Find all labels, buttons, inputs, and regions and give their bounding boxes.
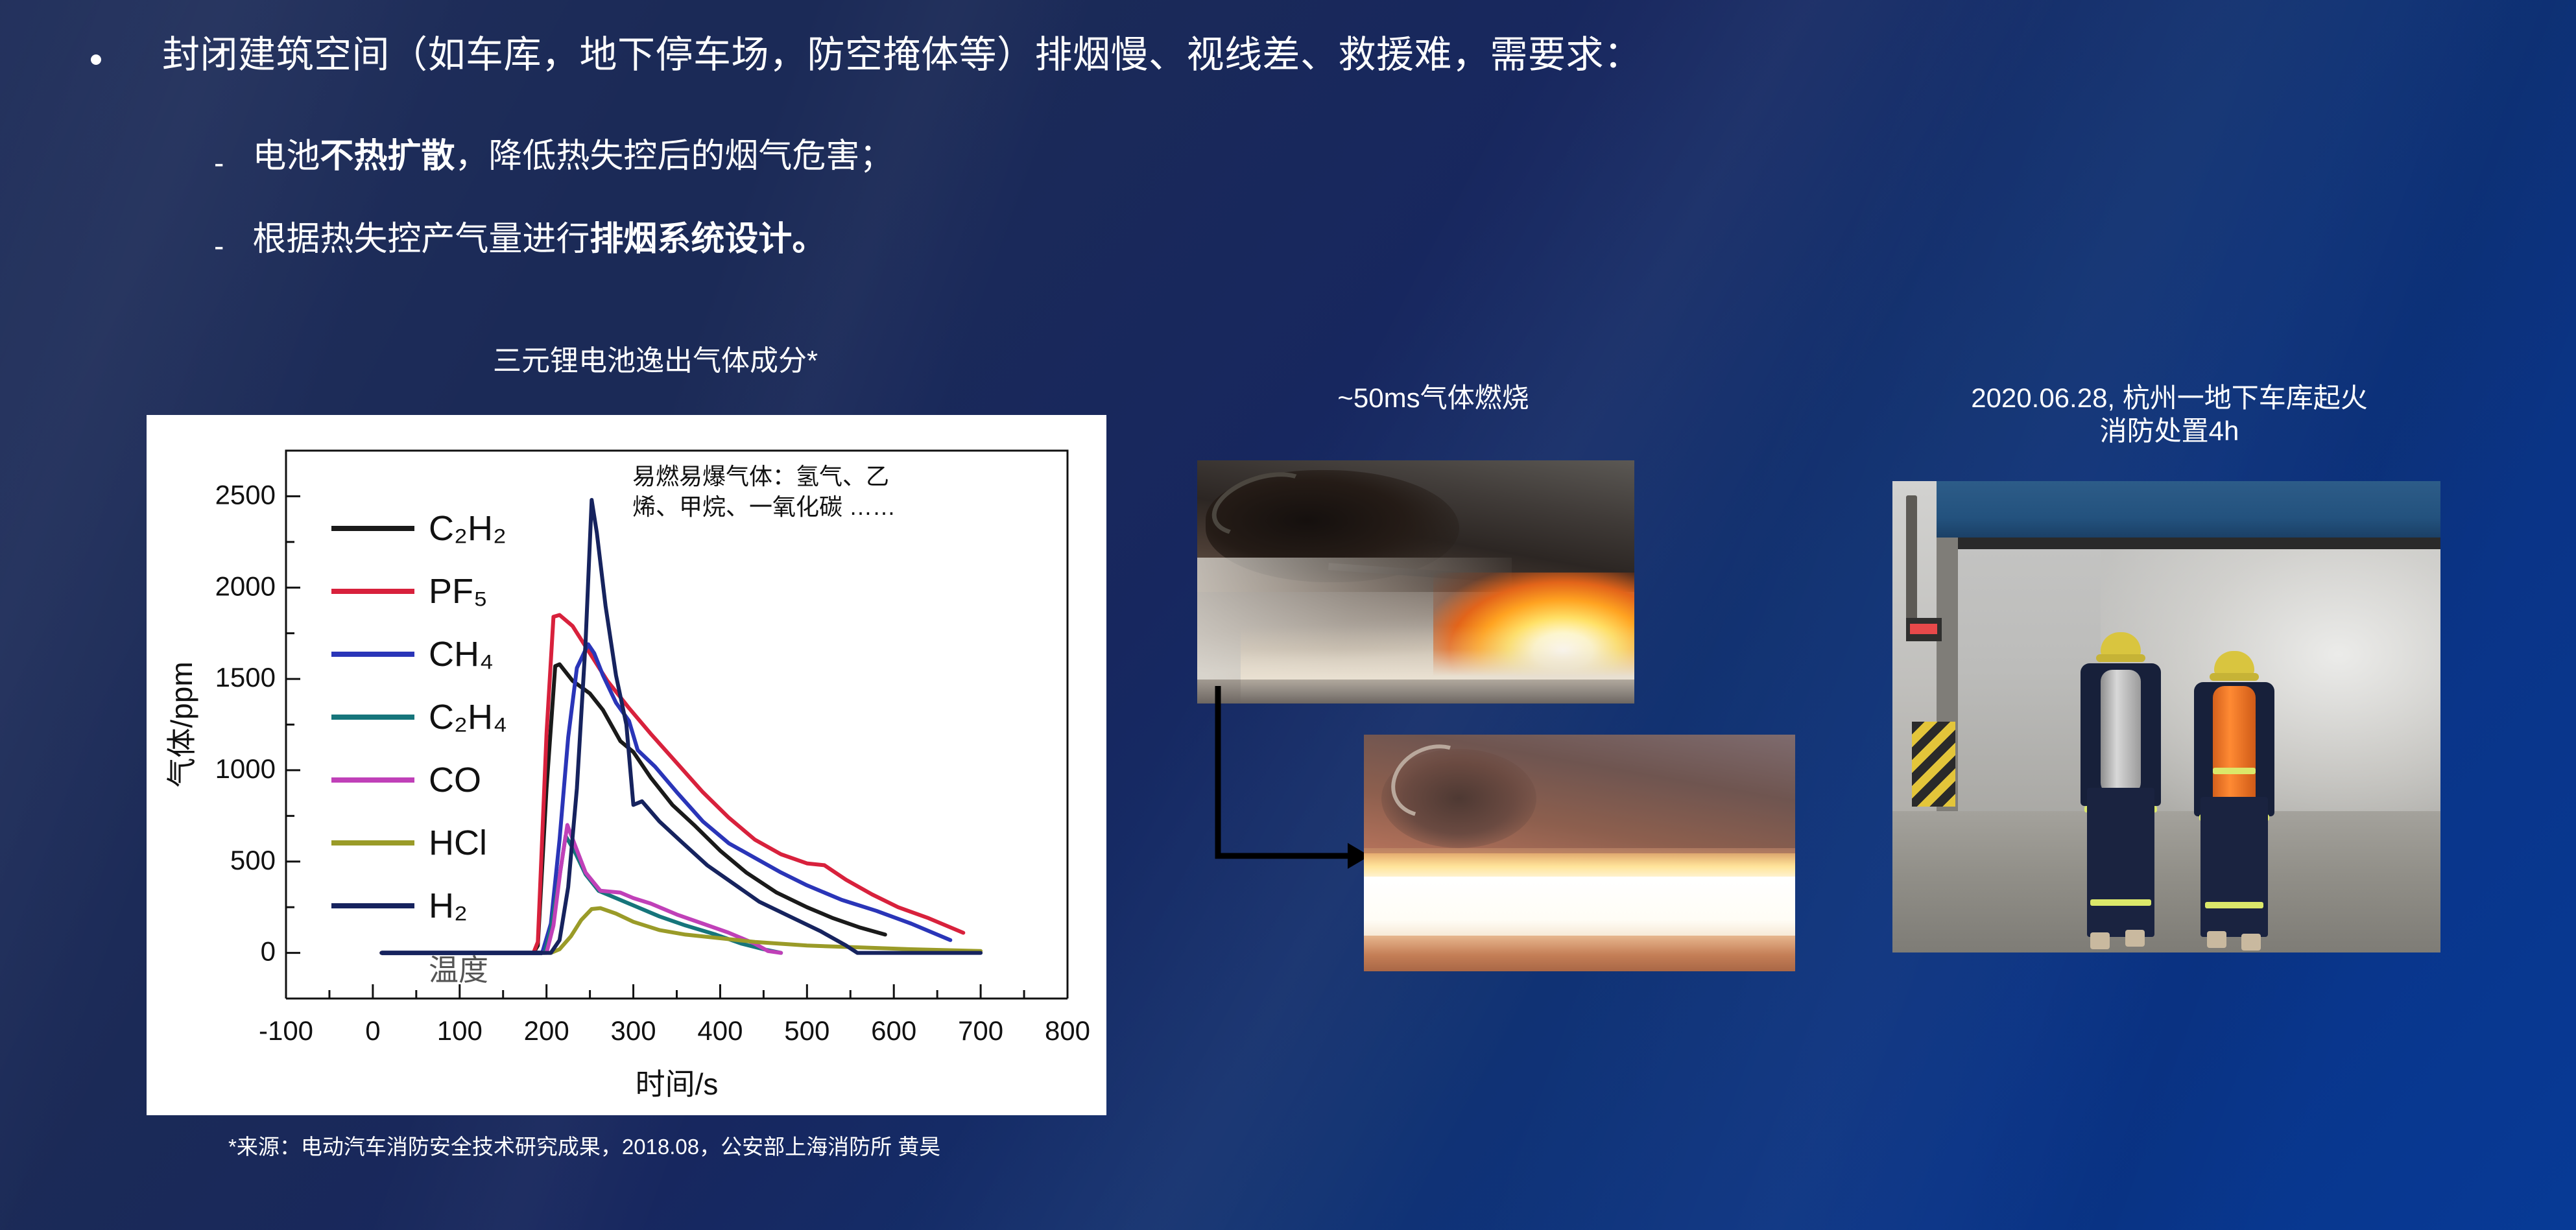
y-axis-label: 气体/ppm <box>165 661 198 787</box>
legend-label-HCl: HCl <box>429 823 487 862</box>
caption-line: 2020.06.28, 杭州一地下车库起火 <box>1835 381 2503 414</box>
sub2-prefix: 根据热失控产气量进行 <box>252 220 590 258</box>
caption-line: 消防处置4h <box>1835 414 2503 447</box>
floor-strip <box>1364 936 1795 971</box>
flame-front-zoom-photo <box>1364 735 1795 971</box>
legend-label-C2H4: C₂H₄ <box>429 698 507 737</box>
bright-flash <box>1364 877 1795 938</box>
chart-title: 三元锂电池逸出气体成分* <box>493 337 818 379</box>
chart-annotation: 易燃易爆气体：氢气、乙 烯、甲烷、一氧化碳 …… <box>632 462 896 523</box>
legend-label-C2H2: C₂H₂ <box>429 509 507 548</box>
reflective-stripe <box>2090 899 2151 906</box>
legend-label-temperature: 温度 <box>429 953 488 987</box>
scba-tank <box>2213 686 2256 809</box>
sub-bullet-1-text: 电池不热扩散，降低热失控后的烟气危害； <box>252 136 893 176</box>
y-tick-label: 500 <box>230 845 276 875</box>
legend-label-H2: H₂ <box>429 886 468 925</box>
sub-bullet-1: - 电池不热扩散，降低热失控后的烟气危害； <box>214 136 893 178</box>
hazard-stripe-guard <box>1912 722 1956 807</box>
y-tick-label: 2000 <box>215 571 276 601</box>
chart-background <box>147 415 1106 1115</box>
x-tick-label: 800 <box>1045 1015 1090 1046</box>
legend-label-CO: CO <box>429 761 481 799</box>
x-tick-label: 0 <box>365 1015 380 1046</box>
reflective-stripe <box>2205 902 2263 908</box>
dash-icon: - <box>214 148 224 178</box>
x-tick-label: 700 <box>958 1015 1003 1046</box>
x-tick-label: -100 <box>259 1015 313 1046</box>
x-tick-label: 200 <box>524 1015 569 1046</box>
scba-tank <box>2101 670 2141 794</box>
y-tick-label: 1500 <box>215 662 276 692</box>
gas-combustion-caption: ~50ms气体燃烧 <box>1206 381 1660 414</box>
helmet-brim <box>2096 654 2145 662</box>
door-lintel <box>1937 538 2440 549</box>
turnout-pants <box>2200 797 2268 937</box>
dash-icon: - <box>214 231 224 261</box>
sub-bullet-2: - 根据热失控产气量进行排烟系统设计。 <box>214 219 826 261</box>
legend-label-CH4: CH₄ <box>429 635 494 674</box>
exit-sign-light <box>1910 624 1937 635</box>
sub-bullet-2-text: 根据热失控产气量进行排烟系统设计。 <box>252 219 826 259</box>
bullet-dot-icon <box>91 54 101 65</box>
callout-arrow-icon <box>1214 686 1376 874</box>
firefighter-left <box>2062 632 2179 943</box>
sub1-suffix: ，降低热失控后的烟气危害； <box>455 137 893 175</box>
boot <box>2125 930 2145 947</box>
main-bullet-text: 封闭建筑空间（如车库，地下停车场，防空掩体等）排烟慢、视线差、救援难，需要求： <box>162 32 1642 78</box>
garage-fire-photo <box>1892 481 2440 952</box>
boot <box>2241 934 2261 951</box>
helmet-brim <box>2210 673 2259 681</box>
x-tick-label: 500 <box>784 1015 829 1046</box>
legend-label-PF5: PF₅ <box>429 572 488 611</box>
sub1-strong: 不热扩散 <box>320 137 455 175</box>
reflective-stripe <box>2213 768 2256 774</box>
chart-svg: 05001000150020002500-1000100200300400500… <box>147 415 1106 1115</box>
y-tick-label: 0 <box>261 936 276 967</box>
wall-pipe <box>1906 495 1917 637</box>
main-bullet: 封闭建筑空间（如车库，地下停车场，防空掩体等）排烟慢、视线差、救援难，需要求： <box>91 32 1642 78</box>
x-tick-label: 400 <box>697 1015 743 1046</box>
source-note: *来源：电动汽车消防安全技术研究成果，2018.08，公安部上海消防所 黄昊 <box>228 1129 940 1161</box>
y-tick-label: 1000 <box>215 753 276 784</box>
firefighter-right <box>2177 651 2291 943</box>
x-tick-label: 600 <box>871 1015 916 1046</box>
turnout-pants <box>2087 788 2154 937</box>
y-tick-label: 2500 <box>215 479 276 510</box>
x-tick-label: 100 <box>437 1015 483 1046</box>
gas-composition-chart: 05001000150020002500-1000100200300400500… <box>147 415 1106 1115</box>
garage-fire-caption: 2020.06.28, 杭州一地下车库起火消防处置4h <box>1835 381 2503 447</box>
gas-combustion-photo <box>1197 460 1634 704</box>
x-tick-label: 300 <box>611 1015 656 1046</box>
sub2-strong: 排烟系统设计。 <box>590 220 826 258</box>
rolling-shutter <box>1937 481 2440 538</box>
boot <box>2207 931 2226 948</box>
slide-canvas: 封闭建筑空间（如车库，地下停车场，防空掩体等）排烟慢、视线差、救援难，需要求： … <box>0 0 2576 1230</box>
sub1-prefix: 电池 <box>252 137 320 175</box>
x-axis-label: 时间/s <box>636 1067 719 1101</box>
boot <box>2090 932 2110 949</box>
